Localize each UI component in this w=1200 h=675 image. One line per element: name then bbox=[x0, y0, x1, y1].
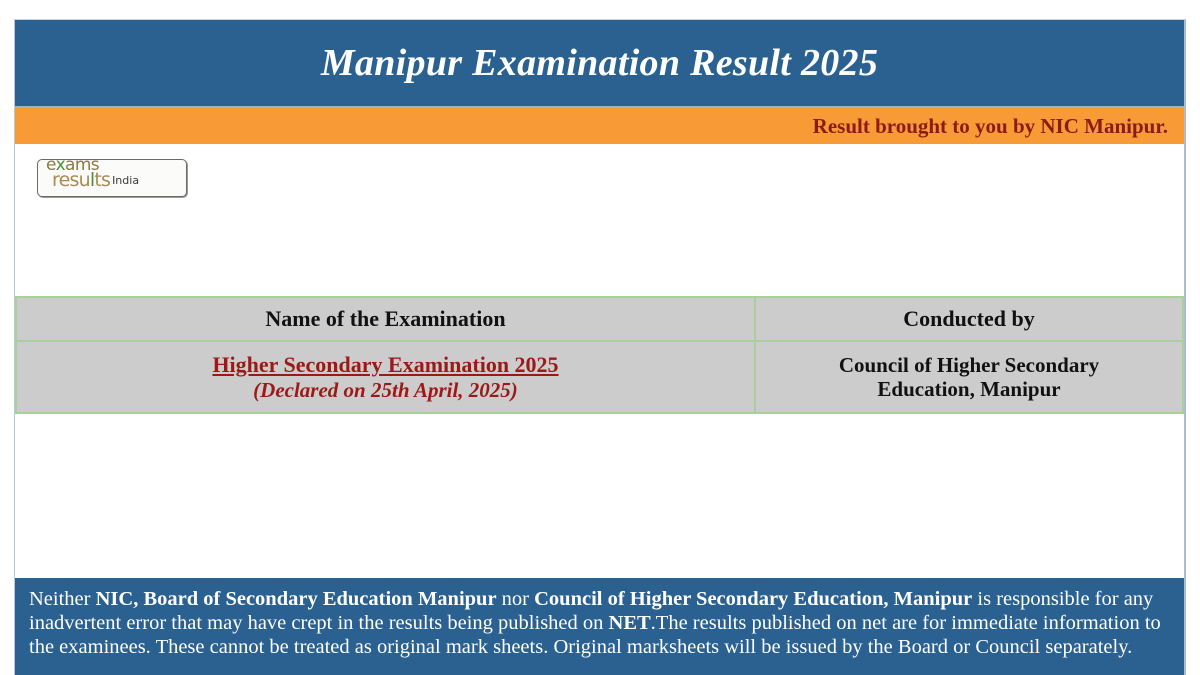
disclaimer-text-1: Neither bbox=[29, 588, 96, 610]
cell-exam-name: Higher Secondary Examination 2025 (Decla… bbox=[16, 341, 755, 413]
disclaimer-bold-2: Council of Higher Secondary Education, M… bbox=[534, 588, 972, 610]
logo-area: exams resultsIndia bbox=[15, 144, 1184, 296]
logo-word-india: India bbox=[112, 174, 139, 187]
credit-text: Result brought to you by NIC Manipur. bbox=[813, 114, 1168, 139]
exam-result-link[interactable]: Higher Secondary Examination 2025 bbox=[23, 352, 748, 378]
column-header-conducted-by: Conducted by bbox=[755, 297, 1183, 341]
disclaimer-bold-1: NIC, Board of Secondary Education Manipu… bbox=[96, 588, 497, 610]
logo-wordmark: exams resultsIndia bbox=[46, 159, 139, 188]
logo-word-results: results bbox=[52, 169, 110, 191]
disclaimer-footer: Neither NIC, Board of Secondary Educatio… bbox=[15, 578, 1184, 675]
logo-line-results: resultsIndia bbox=[46, 173, 139, 189]
column-header-exam-name: Name of the Examination bbox=[16, 297, 755, 341]
results-table: Name of the Examination Conducted by Hig… bbox=[15, 296, 1184, 414]
exam-declared-date: (Declared on 25th April, 2025) bbox=[23, 378, 748, 402]
disclaimer-text-2: nor bbox=[497, 588, 535, 610]
title-banner: Manipur Examination Result 2025 bbox=[15, 20, 1184, 108]
table-header-row: Name of the Examination Conducted by bbox=[16, 297, 1183, 341]
exams-results-india-logo[interactable]: exams resultsIndia bbox=[37, 159, 187, 197]
page-title: Manipur Examination Result 2025 bbox=[321, 44, 878, 82]
conducted-by-line-2: Education, Manipur bbox=[877, 377, 1060, 401]
disclaimer-bold-3: NET bbox=[609, 612, 651, 634]
cell-conducted-by: Council of Higher Secondary Education, M… bbox=[755, 341, 1183, 413]
conducted-by-line-1: Council of Higher Secondary bbox=[839, 353, 1099, 377]
page-container: Manipur Examination Result 2025 Result b… bbox=[14, 19, 1186, 675]
table-row: Higher Secondary Examination 2025 (Decla… bbox=[16, 341, 1183, 413]
content-spacer bbox=[15, 414, 1184, 578]
credit-bar: Result brought to you by NIC Manipur. bbox=[15, 108, 1184, 144]
